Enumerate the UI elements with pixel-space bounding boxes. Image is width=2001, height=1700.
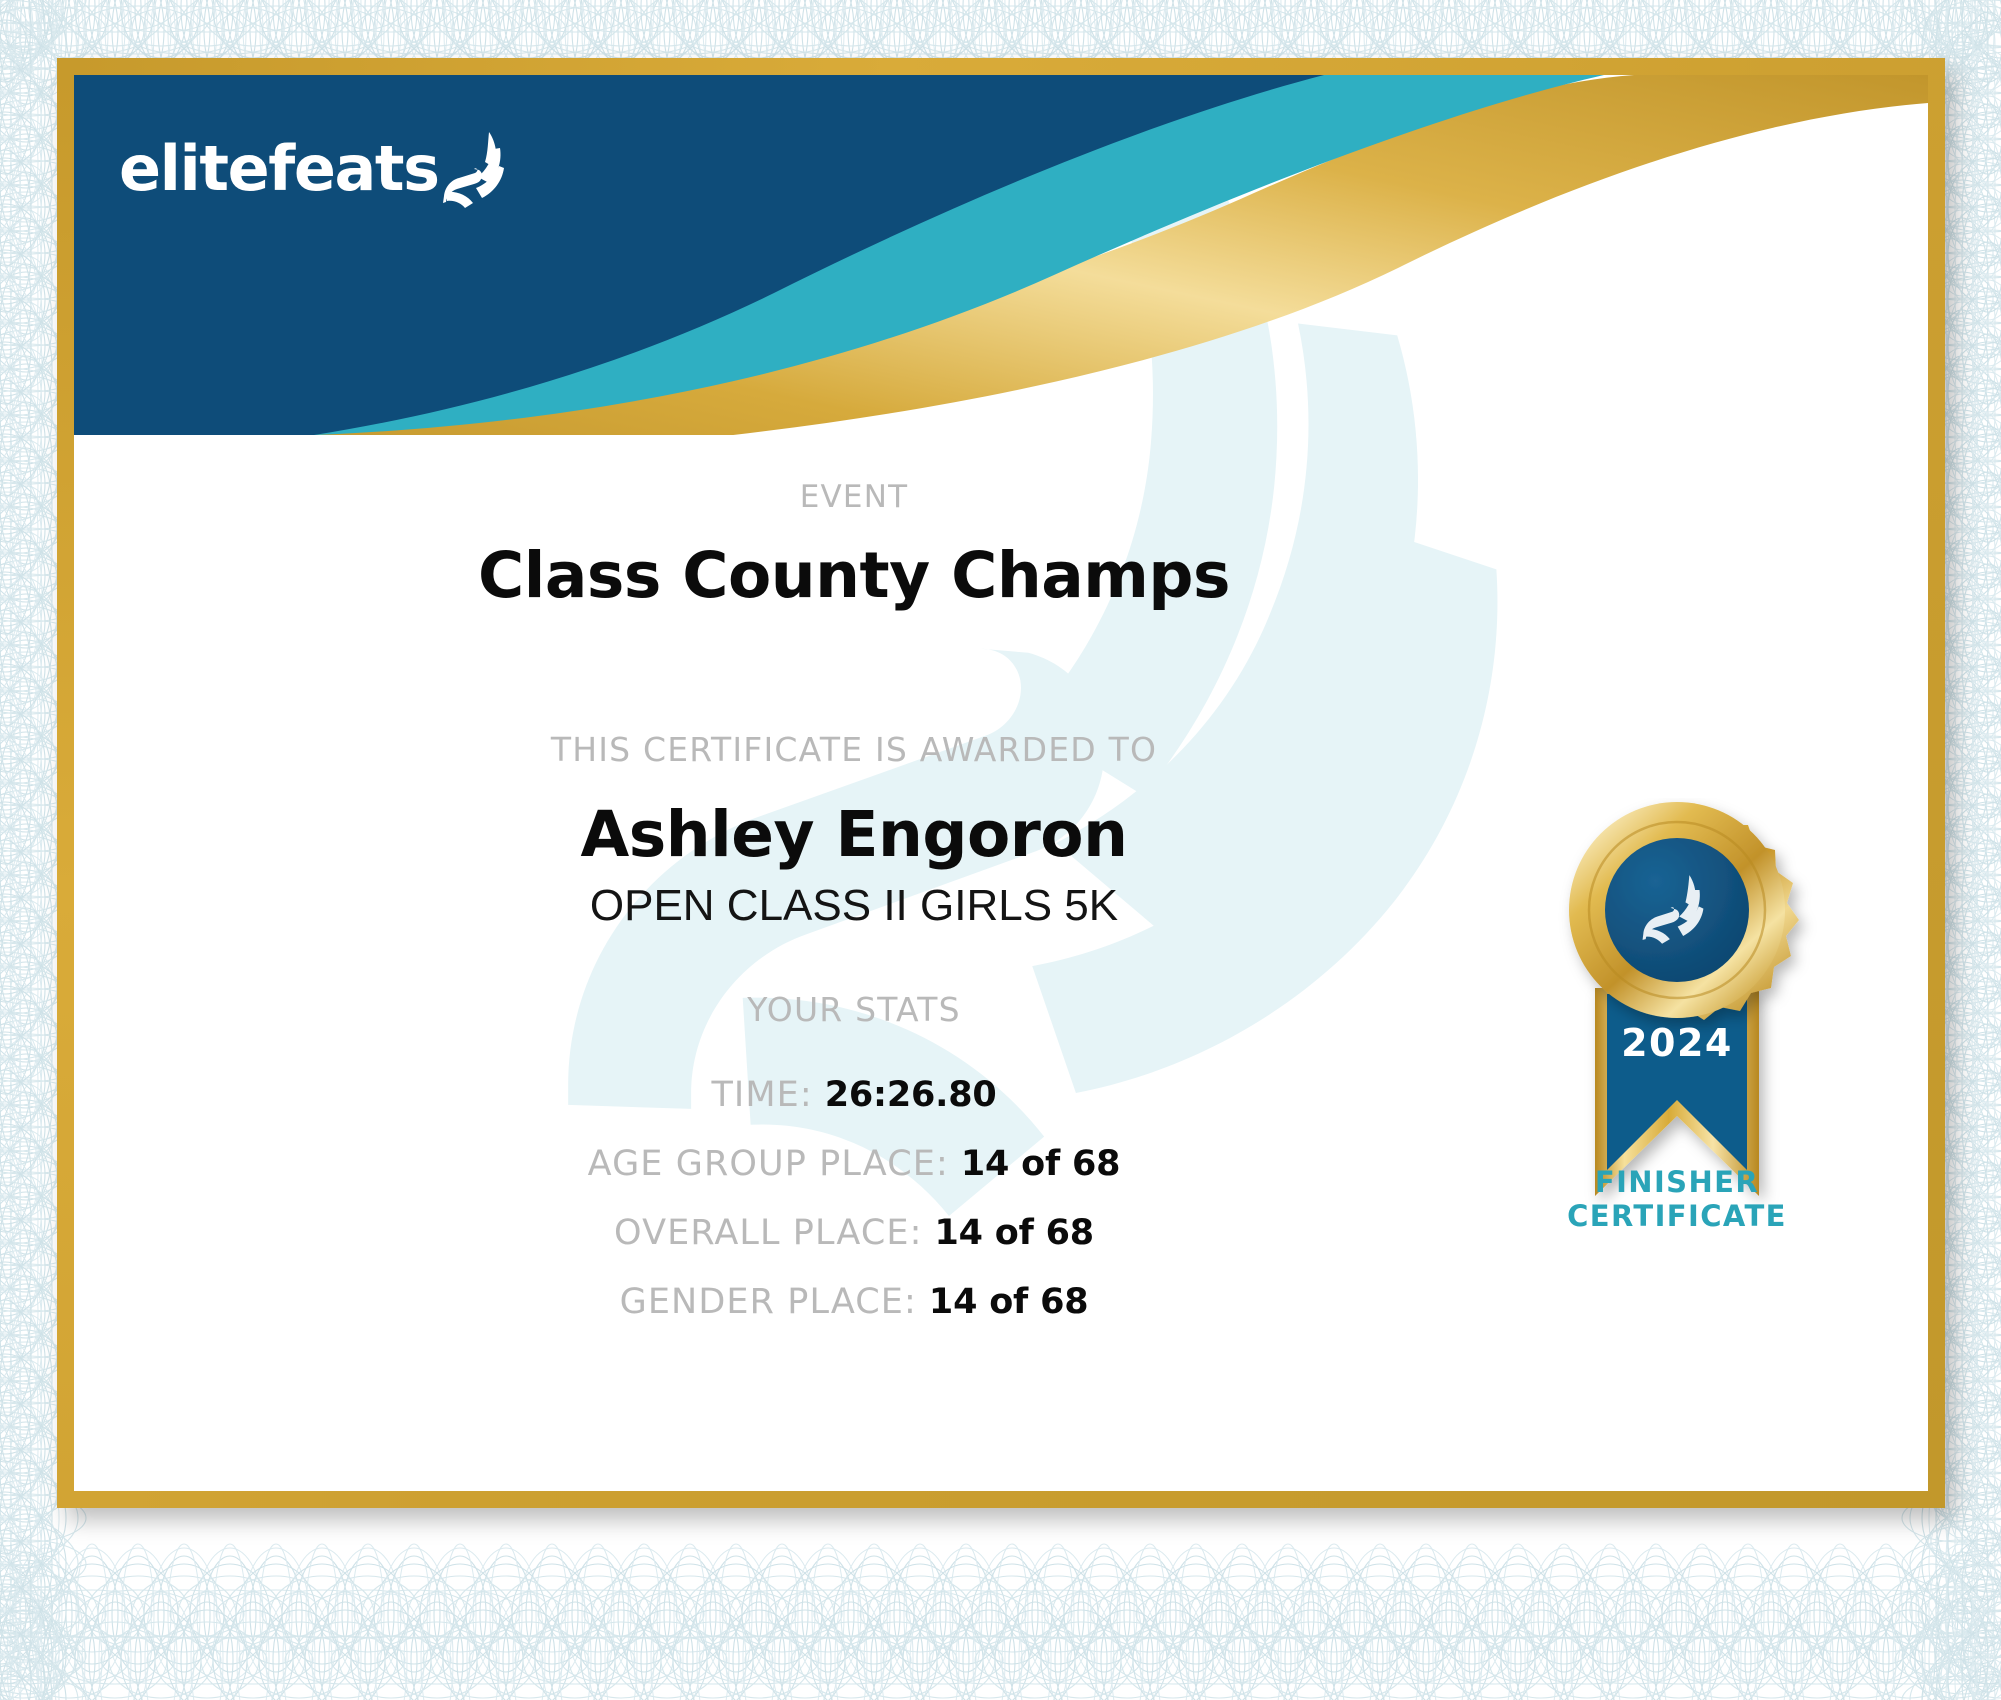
your-stats-label: YOUR STATS: [74, 990, 1634, 1029]
event-label: EVENT: [74, 479, 1634, 515]
caption-line-1: FINISHER: [1487, 1165, 1867, 1199]
stats-table: TIME: 26:26.80 AGE GROUP PLACE: 14 of 68…: [74, 1075, 1634, 1351]
table-row: TIME: 26:26.80: [74, 1075, 1634, 1115]
logo-wordmark: elitefeats: [119, 138, 439, 200]
stat-key: OVERALL PLACE:: [614, 1213, 922, 1253]
stat-value: 26:26.80: [825, 1075, 997, 1115]
certificate-page: elitefeats EVENT Class County Champs THI…: [0, 0, 2001, 1700]
division-name: OPEN CLASS II GIRLS 5K: [74, 881, 1634, 931]
badge-year: 2024: [1621, 1021, 1733, 1065]
winged-foot-icon: [443, 130, 505, 208]
event-name: Class County Champs: [74, 539, 1634, 612]
stat-value: 14 of 68: [961, 1144, 1120, 1184]
athlete-name: Ashley Engoron: [74, 798, 1634, 871]
finisher-certificate-caption: FINISHER CERTIFICATE: [1487, 1165, 1867, 1233]
stat-key: TIME:: [711, 1075, 812, 1115]
table-row: AGE GROUP PLACE: 14 of 68: [74, 1144, 1634, 1184]
table-row: GENDER PLACE: 14 of 68: [74, 1282, 1634, 1322]
stat-key: AGE GROUP PLACE:: [588, 1144, 949, 1184]
certificate-body: elitefeats EVENT Class County Champs THI…: [74, 75, 1928, 1491]
table-row: OVERALL PLACE: 14 of 68: [74, 1213, 1634, 1253]
awarded-to-label: THIS CERTIFICATE IS AWARDED TO: [74, 730, 1634, 769]
stat-value: 14 of 68: [934, 1213, 1093, 1253]
certificate-frame: elitefeats EVENT Class County Champs THI…: [57, 58, 1945, 1508]
certificate-content: EVENT Class County Champs THIS CERTIFICA…: [74, 75, 1928, 1491]
elitefeats-logo: elitefeats: [119, 130, 505, 200]
caption-line-2: CERTIFICATE: [1487, 1199, 1867, 1233]
stat-key: GENDER PLACE:: [620, 1282, 917, 1322]
stat-value: 14 of 68: [929, 1282, 1088, 1322]
